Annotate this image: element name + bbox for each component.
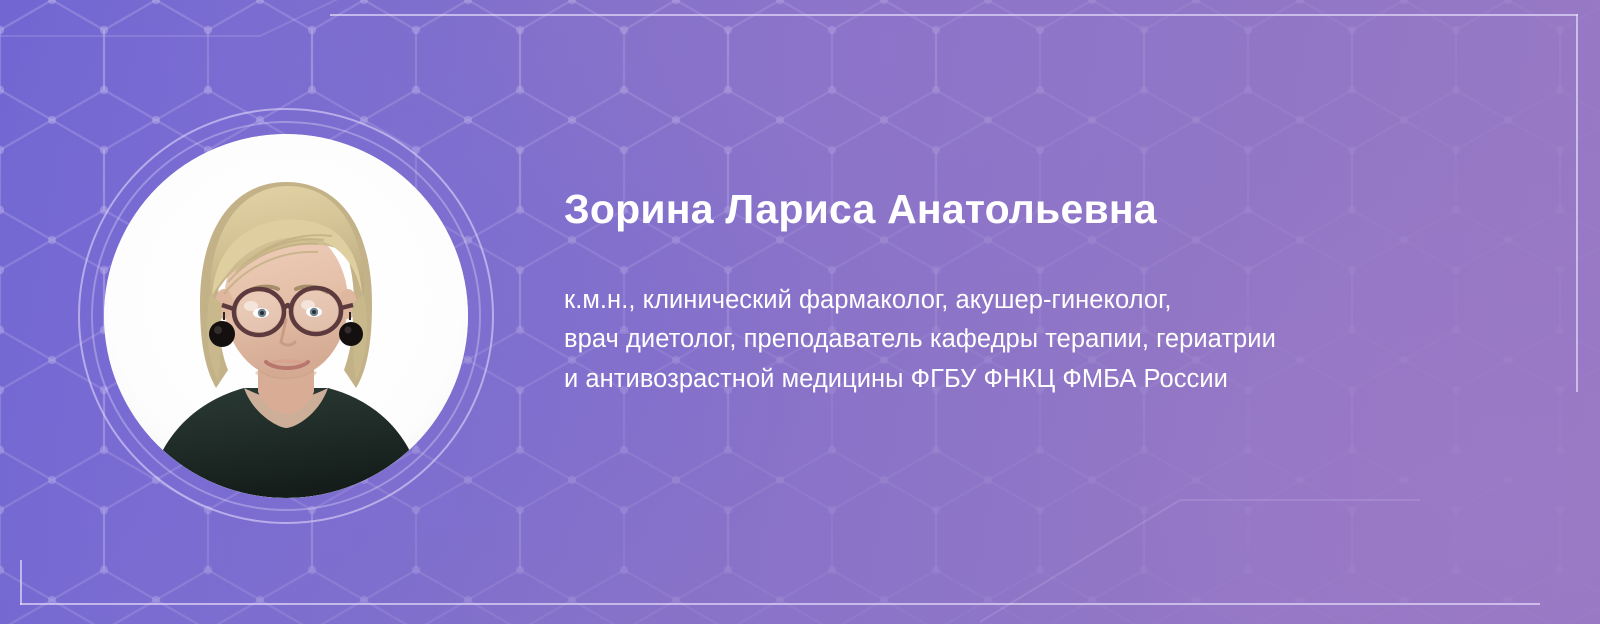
credentials-line-3: и антивозрастной медицины ФГБУ ФНКЦ ФМБА…: [564, 360, 1524, 399]
speaker-name: Зорина Лариса Анатольевна: [564, 186, 1524, 233]
portrait-photo: [104, 134, 468, 498]
portrait: [104, 134, 468, 498]
speaker-text-block: Зорина Лариса Анатольевна к.м.н., клинич…: [564, 186, 1524, 399]
speaker-credentials: к.м.н., клинический фармаколог, акушер-г…: [564, 233, 1524, 399]
speaker-banner: Зорина Лариса Анатольевна к.м.н., клинич…: [0, 0, 1600, 624]
credentials-line-1: к.м.н., клинический фармаколог, акушер-г…: [564, 281, 1524, 320]
credentials-line-2: врач диетолог, преподаватель кафедры тер…: [564, 320, 1524, 359]
